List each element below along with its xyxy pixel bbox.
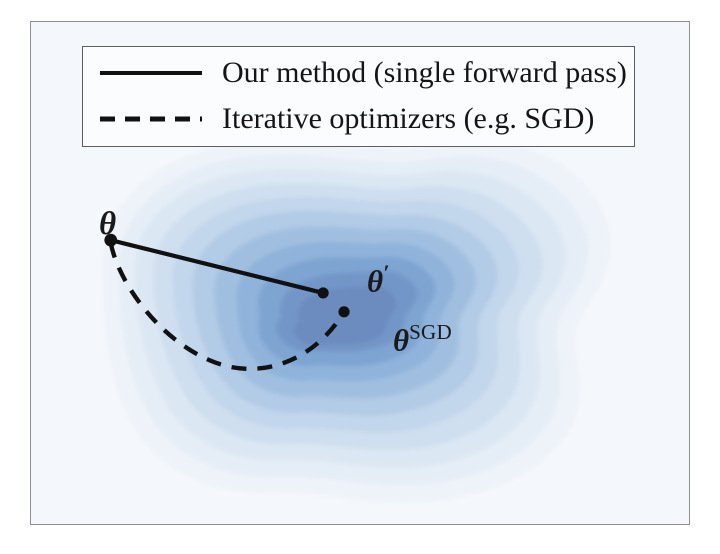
legend-label-our-method: Our method (single forward pass): [222, 58, 627, 88]
legend-solid-line-swatch: [98, 63, 204, 83]
theta-glyph: θ: [99, 206, 116, 242]
prime-glyph: ′: [383, 260, 389, 285]
legend-entry-iterative-optimizers: Iterative optimizers (e.g. SGD): [83, 97, 634, 141]
figure-root: θ θ′ θSGD Our method (single forward pas…: [0, 0, 720, 554]
theta-glyph: θ: [367, 263, 383, 298]
theta-label: θ: [99, 208, 116, 241]
theta-glyph: θ: [393, 322, 409, 357]
legend: Our method (single forward pass) Iterati…: [82, 46, 635, 147]
theta-prime-marker: [318, 287, 329, 298]
theta-prime-label: θ′: [367, 262, 389, 296]
our-method-path: [111, 240, 323, 293]
plot-panel: θ θ′ θSGD Our method (single forward pas…: [30, 21, 690, 525]
legend-dashed-line-swatch: [98, 109, 204, 129]
theta-sgd-label: θSGD: [393, 322, 452, 355]
legend-label-iterative-optimizers: Iterative optimizers (e.g. SGD): [222, 104, 594, 134]
legend-entry-our-method: Our method (single forward pass): [83, 51, 634, 95]
sgd-superscript: SGD: [409, 320, 452, 344]
sgd-path: [111, 243, 344, 369]
theta-sgd-marker: [338, 306, 349, 317]
